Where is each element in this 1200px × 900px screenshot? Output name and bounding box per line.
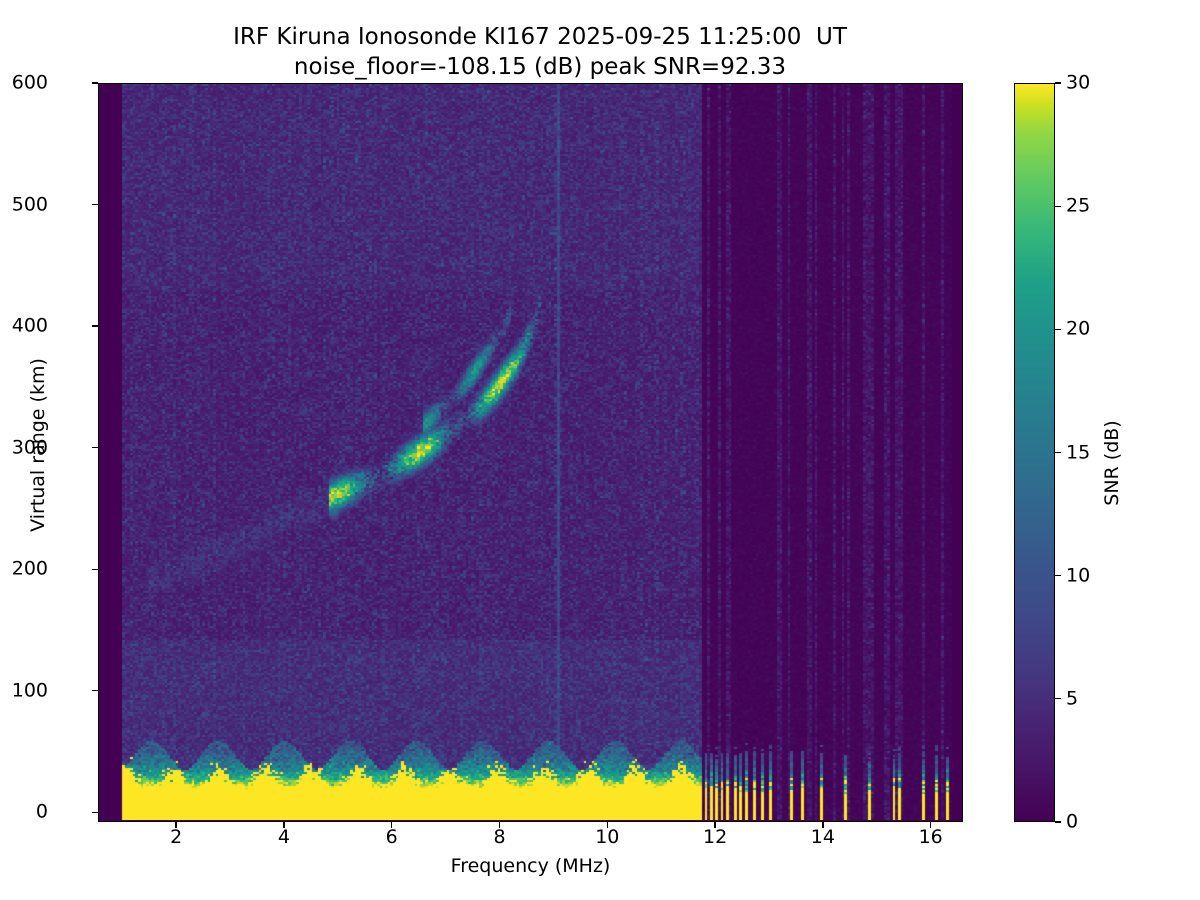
y-axis-tick-mark bbox=[92, 447, 98, 448]
x-axis-tick-mark bbox=[607, 822, 608, 828]
x-axis-tick-mark bbox=[822, 822, 823, 828]
x-axis-tick-mark bbox=[930, 822, 931, 828]
y-axis-tick-mark bbox=[92, 690, 98, 691]
x-axis-tick-label: 12 bbox=[703, 828, 727, 847]
colorbar-tick-label: 10 bbox=[1066, 566, 1090, 585]
x-axis-tick-mark bbox=[391, 822, 392, 828]
colorbar-tick-mark bbox=[1055, 821, 1061, 822]
x-axis-tick-label: 16 bbox=[919, 828, 943, 847]
colorbar-tick-mark bbox=[1055, 452, 1061, 453]
x-axis-label: Frequency (MHz) bbox=[98, 855, 963, 877]
colorbar-tick-mark bbox=[1055, 575, 1061, 576]
ionogram-plot-area bbox=[98, 83, 963, 822]
x-axis-tick-label: 6 bbox=[386, 828, 398, 847]
y-axis-label: Virtual range (km) bbox=[27, 165, 49, 725]
colorbar-tick-label: 30 bbox=[1066, 74, 1090, 93]
figure-title-line-2: noise_floor=-108.15 (dB) peak SNR=92.33 bbox=[0, 52, 1080, 82]
x-axis-tick-label: 4 bbox=[278, 828, 290, 847]
x-axis-tick-label: 2 bbox=[170, 828, 182, 847]
x-axis-tick-mark bbox=[283, 822, 284, 828]
y-axis-tick-label: 600 bbox=[12, 74, 48, 93]
ionogram-heatmap-canvas bbox=[99, 84, 961, 820]
x-axis-tick-label: 8 bbox=[493, 828, 505, 847]
y-axis-tick-label: 0 bbox=[36, 803, 48, 822]
y-axis-tick-mark bbox=[92, 82, 98, 83]
colorbar-tick-label: 0 bbox=[1066, 813, 1078, 832]
y-axis-tick-mark bbox=[92, 569, 98, 570]
y-axis-tick-mark bbox=[92, 812, 98, 813]
x-axis-tick-mark bbox=[714, 822, 715, 828]
x-axis-tick-mark bbox=[175, 822, 176, 828]
x-axis-tick-label: 10 bbox=[595, 828, 619, 847]
figure-title-line-1: IRF Kiruna Ionosonde KI167 2025-09-25 11… bbox=[0, 22, 1080, 52]
x-axis-tick-mark bbox=[499, 822, 500, 828]
y-axis-tick-mark bbox=[92, 204, 98, 205]
colorbar-tick-mark bbox=[1055, 698, 1061, 699]
colorbar-tick-mark bbox=[1055, 329, 1061, 330]
ionogram-figure: IRF Kiruna Ionosonde KI167 2025-09-25 11… bbox=[0, 0, 1200, 900]
colorbar-tick-label: 5 bbox=[1066, 689, 1078, 708]
y-axis-tick-mark bbox=[92, 325, 98, 326]
colorbar-tick-label: 25 bbox=[1066, 197, 1090, 216]
colorbar bbox=[1014, 83, 1055, 822]
colorbar-label: SNR (dB) bbox=[1101, 183, 1123, 743]
x-axis-tick-label: 14 bbox=[811, 828, 835, 847]
colorbar-tick-mark bbox=[1055, 82, 1061, 83]
colorbar-tick-label: 20 bbox=[1066, 320, 1090, 339]
colorbar-tick-mark bbox=[1055, 206, 1061, 207]
colorbar-tick-label: 15 bbox=[1066, 443, 1090, 462]
